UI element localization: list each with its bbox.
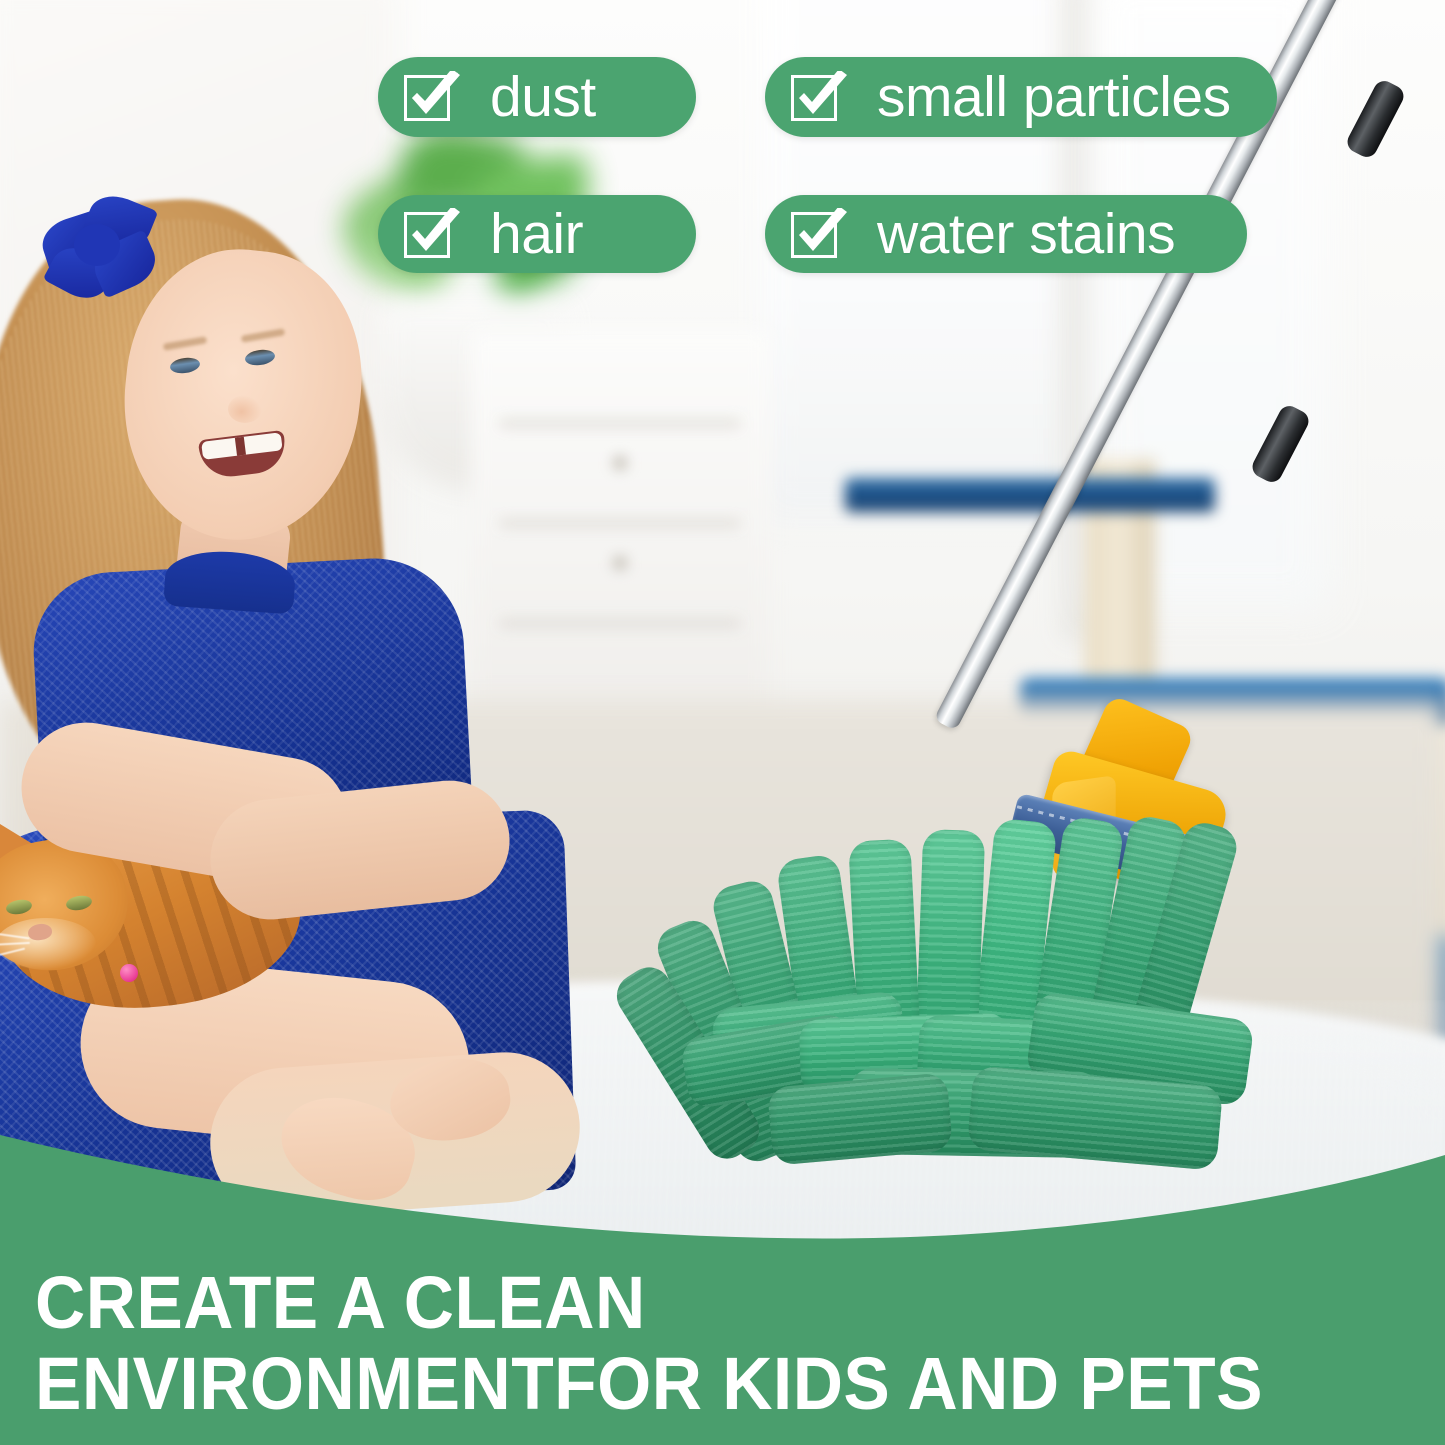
blue-hair-bow — [36, 188, 166, 308]
feature-badge-label: small particles — [877, 69, 1231, 126]
checkbox-checked-icon — [791, 69, 847, 125]
feature-badge-dust[interactable]: dust — [378, 57, 696, 137]
feature-badge-hair[interactable]: hair — [378, 195, 696, 273]
feature-badge-label: hair — [490, 206, 583, 263]
checkbox-checked-icon — [791, 206, 847, 262]
mop-strand-texture — [767, 1072, 953, 1165]
mop-pole-joint-upper — [1344, 77, 1408, 161]
feature-badge-label: water stains — [877, 206, 1175, 263]
girl-nose — [228, 395, 262, 423]
mop-green-head — [650, 830, 1270, 1210]
checkbox-checked-icon — [404, 206, 460, 262]
feature-badge-small-particles[interactable]: small particles — [765, 57, 1277, 137]
mop-pole-joint-lower — [1249, 402, 1313, 486]
feature-badge-label: dust — [490, 69, 596, 126]
feature-badge-water-stains[interactable]: water stains — [765, 195, 1247, 273]
cat-collar-bead — [120, 964, 138, 982]
product-feature-image: dust small particles hair water stains — [0, 0, 1445, 1445]
girl-with-cat — [0, 180, 600, 1190]
checkbox-checked-icon — [404, 69, 460, 125]
microfiber-mop — [620, 0, 1445, 1240]
